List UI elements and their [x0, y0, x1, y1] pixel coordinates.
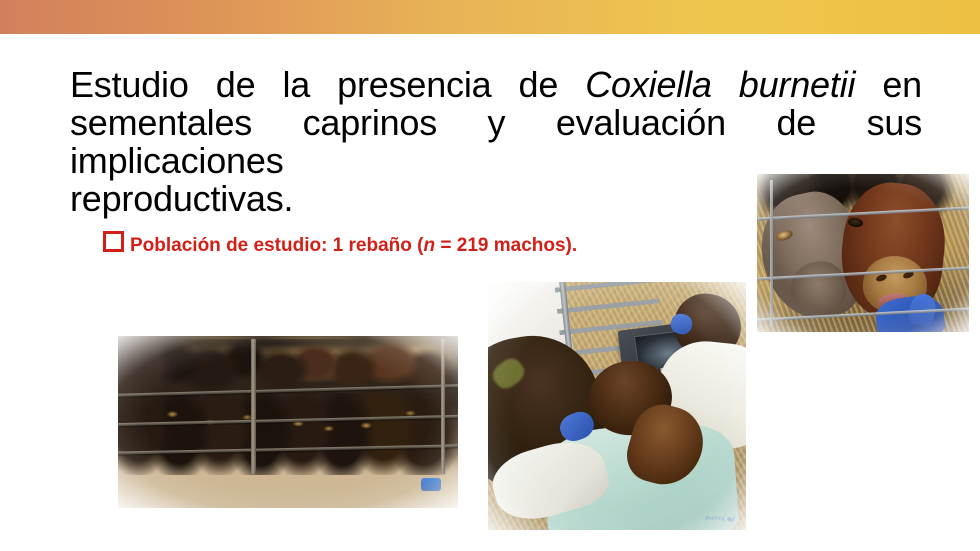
pen-goat-collars [118, 400, 458, 452]
pen-blue-bucket [421, 478, 441, 491]
photo-goat-pen-inner [118, 336, 458, 508]
photo-goat-heads-inner [757, 174, 969, 332]
bullet-text-before: Población de estudio: 1 rebaño ( [130, 235, 423, 256]
title-species-name: Coxiella burnetii [585, 64, 855, 105]
bullet-poblacion-de-estudio: Población de estudio: 1 rebaño (n = 219 … [103, 230, 577, 257]
bullet-text: Población de estudio: 1 rebaño (n = 219 … [130, 235, 577, 257]
photo-ultrasound-exam: ProVeg [488, 282, 746, 530]
title-line1-part-b: en [882, 64, 922, 105]
title-line-1: Estudio de la presencia de Coxiella burn… [70, 66, 922, 104]
title-line1-part-a: Estudio de la presencia de [70, 64, 558, 105]
slide-canvas: Estudio de la presencia de Coxiella burn… [0, 0, 980, 551]
photo-goat-heads [757, 174, 969, 332]
photo-goat-pen [118, 336, 458, 508]
heads-fence-vertical-bar [770, 180, 773, 325]
hollow-square-bullet-icon [103, 231, 124, 252]
title-line-2: sementales caprinos y evaluación de sus … [70, 104, 922, 180]
exam-watermark-text: ProVeg [706, 516, 725, 522]
pen-fence-post-center [251, 339, 256, 473]
exam-watermark-logo-icon [727, 516, 736, 523]
top-gradient-band [0, 0, 980, 34]
bullet-text-after: = 219 machos). [435, 235, 577, 256]
pen-fence-post-right [441, 339, 445, 473]
photo-ultrasound-exam-inner: ProVeg [488, 282, 746, 530]
exam-watermark: ProVeg [706, 516, 736, 523]
bullet-italic-n: n [423, 235, 435, 256]
